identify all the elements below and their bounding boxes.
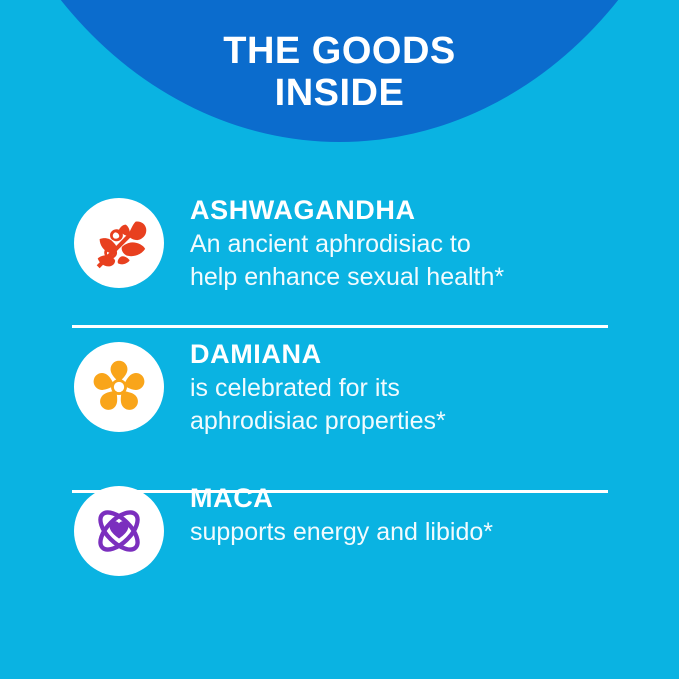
ingredient-description-line-2: help enhance sexual health* [190,261,620,294]
ingredient-description-line-1: is celebrated for its [190,372,620,405]
page-title-line-2: INSIDE [0,72,679,114]
ingredient-description-line-2: aphrodisiac properties* [190,405,620,438]
ingredient-name: MACA [190,482,679,514]
page-title-line-1: THE GOODS [0,30,679,72]
maca-atom-heart-icon [89,501,149,561]
row-divider [72,490,608,493]
heart-shape [110,521,129,538]
ingredient-description: An ancient aphrodisiac to help enhance s… [190,228,620,294]
ingredient-description-line-1: An ancient aphrodisiac to [190,228,620,261]
ingredient-description: is celebrated for its aphrodisiac proper… [190,372,620,438]
ingredient-icon-badge [74,486,164,576]
ingredient-description-line-1: supports energy and libido* [190,516,620,549]
ingredient-icon-badge [74,342,164,432]
row-divider [72,325,608,328]
ingredient-description: supports energy and libido* [190,516,620,549]
damiana-flower-icon [89,357,149,417]
goods-inside-panel: THE GOODS INSIDE [0,0,679,679]
list-item-damiana: DAMIANA is celebrated for its aphrodisia… [0,320,679,464]
list-item-maca: MACA supports energy and libido* [0,464,679,608]
ingredient-name: DAMIANA [190,338,679,370]
ingredient-text-block: ASHWAGANDHA An ancient aphrodisiac to he… [164,176,679,294]
page-title: THE GOODS INSIDE [0,30,679,114]
ingredient-text-block: MACA supports energy and libido* [164,464,679,549]
list-item-ashwagandha: ASHWAGANDHA An ancient aphrodisiac to he… [0,176,679,320]
ingredient-name: ASHWAGANDHA [190,194,679,226]
ashwagandha-plant-icon [88,212,150,274]
ingredient-text-block: DAMIANA is celebrated for its aphrodisia… [164,320,679,438]
ingredient-icon-badge [74,198,164,288]
ingredient-list: ASHWAGANDHA An ancient aphrodisiac to he… [0,176,679,608]
